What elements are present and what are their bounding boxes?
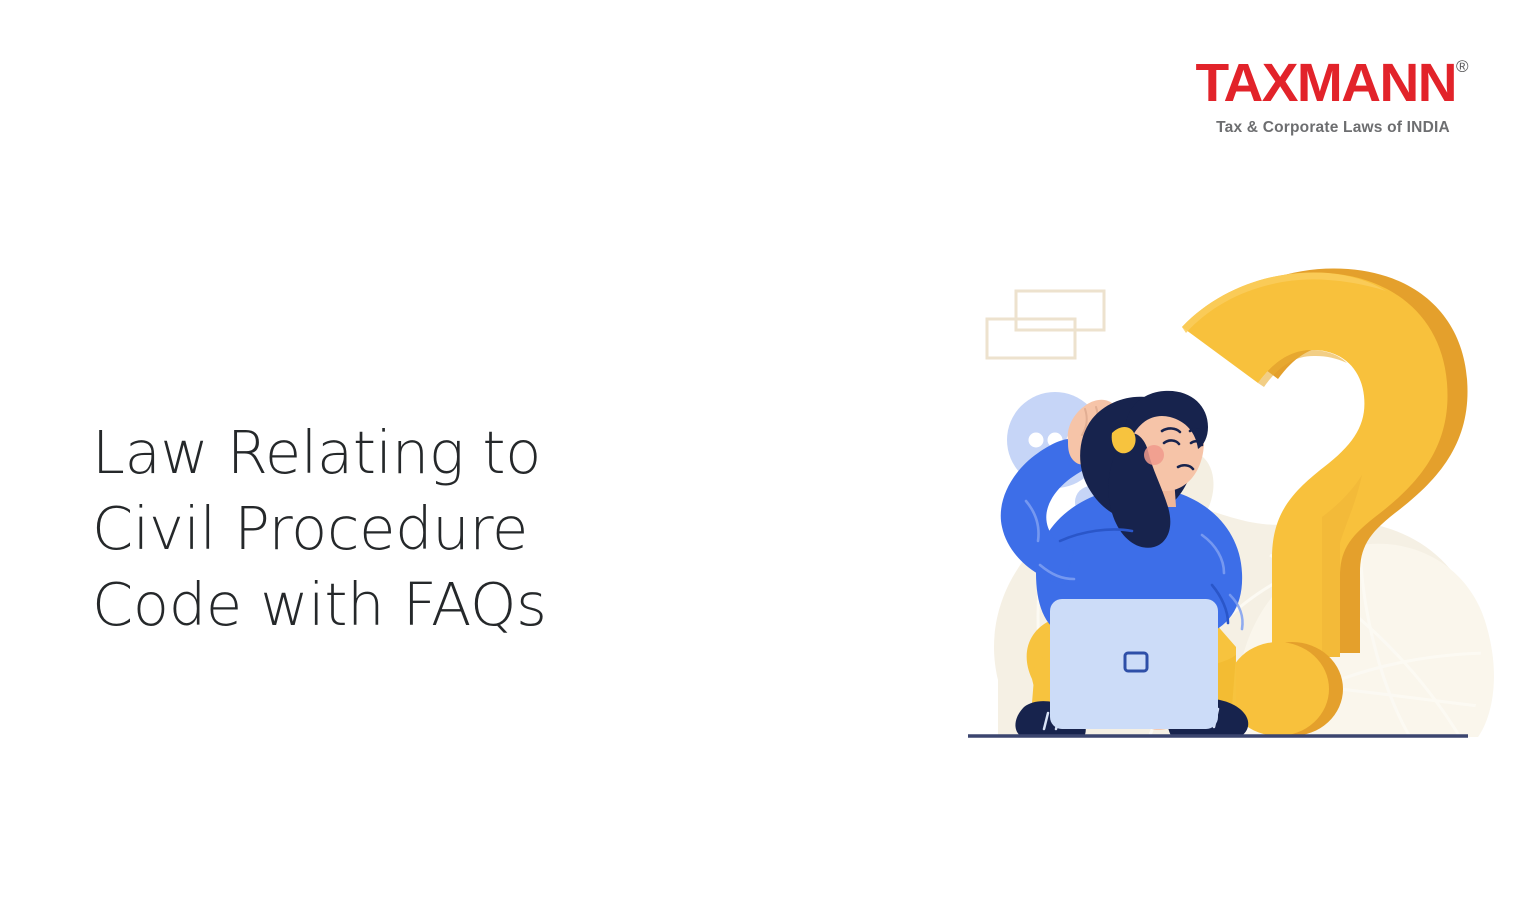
- thought-bubble-dot-1: [1029, 433, 1044, 448]
- outline-rect-lower: [987, 319, 1075, 358]
- laptop: [1050, 599, 1218, 729]
- laptop-body: [1050, 599, 1218, 729]
- taxmann-logo[interactable]: TAXMANN ® Tax & Corporate Laws of INDIA: [1208, 56, 1458, 137]
- illustration-svg: [940, 255, 1500, 765]
- outline-rect-upper: [1016, 291, 1104, 330]
- hero-illustration: [940, 255, 1500, 765]
- banner-root: TAXMANN ® Tax & Corporate Laws of INDIA …: [0, 0, 1536, 900]
- person-cheek-blush: [1144, 445, 1164, 465]
- registered-trademark-icon: ®: [1456, 58, 1469, 75]
- decorative-outline-rectangles: [987, 291, 1104, 358]
- logo-tagline: Tax & Corporate Laws of INDIA: [1208, 119, 1458, 137]
- logo-wordmark-text: TAXMANN: [1195, 56, 1456, 110]
- page-title: Law Relating to Civil Procedure Code wit…: [92, 415, 712, 643]
- logo-wordmark-row: TAXMANN ®: [1208, 56, 1458, 110]
